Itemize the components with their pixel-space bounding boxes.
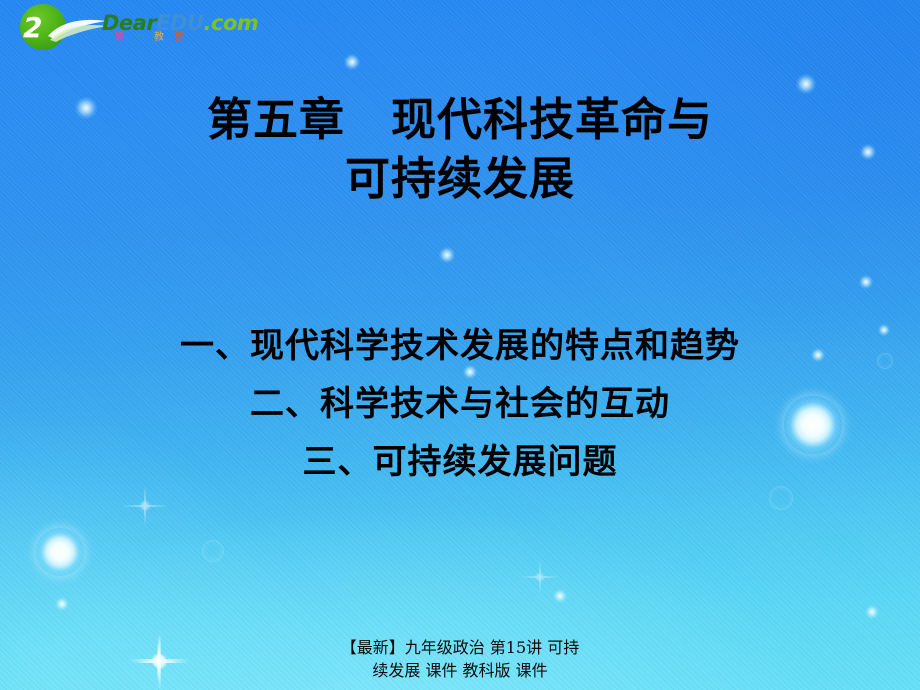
logo-sub-char-1: 第 bbox=[114, 32, 134, 43]
presentation-slide: 2 DearEDU.com 第一教育 第五章 现代科技革命与 可持续发展 一、现… bbox=[0, 0, 920, 690]
logo-sub-char-4: 育 bbox=[174, 32, 194, 43]
outline-item-1: 一、现代科学技术发展的特点和趋势 bbox=[0, 318, 920, 376]
logo-sub-char-3: 教 bbox=[154, 32, 174, 43]
slide-title-line1: 第五章 现代科技革命与 bbox=[207, 93, 713, 146]
logo-brand-part3: .com bbox=[204, 11, 259, 35]
logo-mark-text: 2 bbox=[23, 14, 42, 42]
slide-title-line2: 可持续发展 bbox=[0, 149, 920, 208]
slide-caption: 【最新】九年级政治 第15讲 可持 续发展 课件 教科版 课件 bbox=[0, 636, 920, 682]
star-dot-bottom-right bbox=[865, 605, 879, 619]
dearedu-logo[interactable]: 2 DearEDU.com 第一教育 bbox=[6, 2, 218, 52]
star-dot-left-low bbox=[55, 597, 69, 611]
sparkle-icon-bottom-center bbox=[520, 560, 560, 594]
slide-caption-line1: 【最新】九年级政治 第15讲 可持 bbox=[0, 636, 920, 659]
outline-item-2: 二、科学技术与社会的互动 bbox=[0, 376, 920, 434]
slide-caption-line2: 续发展 课件 教科版 课件 bbox=[0, 659, 920, 682]
logo-swoosh-icon bbox=[46, 16, 108, 42]
star-dot-right-mid bbox=[859, 275, 873, 289]
slide-title: 第五章 现代科技革命与 可持续发展 bbox=[0, 90, 920, 209]
outline-list: 一、现代科学技术发展的特点和趋势 二、科学技术与社会的互动 三、可持续发展问题 bbox=[0, 318, 920, 491]
sparkle-icon-left-mid bbox=[122, 486, 168, 526]
logo-subtitle-text: 第一教育 bbox=[114, 33, 194, 43]
outline-item-3: 三、可持续发展问题 bbox=[0, 434, 920, 492]
star-orb-left bbox=[36, 528, 84, 576]
ring-left-low bbox=[202, 540, 224, 562]
star-dot-center bbox=[439, 247, 456, 264]
logo-sub-char-2: 一 bbox=[134, 32, 154, 43]
star-dot-upper-mid bbox=[344, 54, 361, 71]
logo-brand-text: DearEDU.com bbox=[102, 13, 258, 34]
